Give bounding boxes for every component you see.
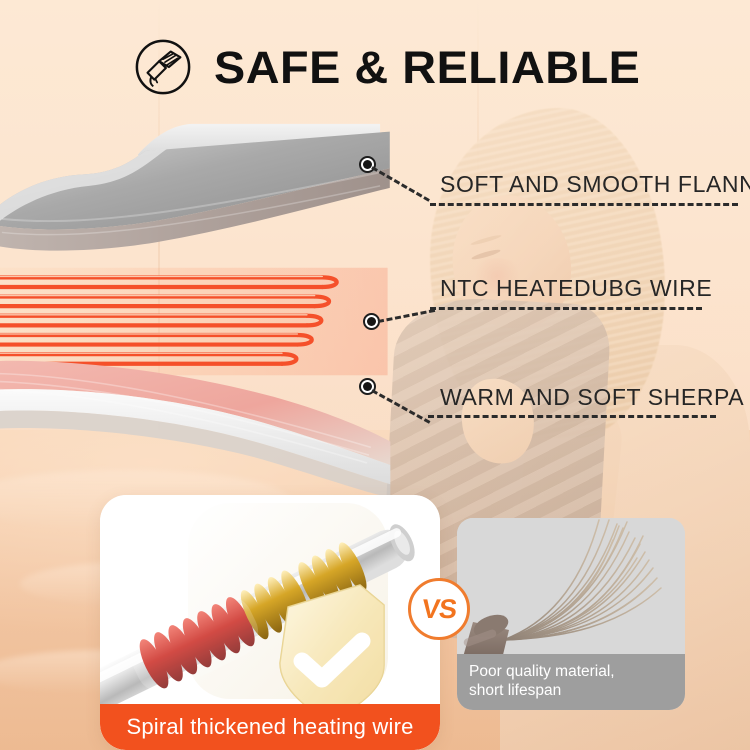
underline-sherpa	[428, 415, 716, 418]
callout-label-flannel: SOFT AND SMOOTH FLANNEL	[440, 173, 750, 196]
callout-label-sherpa: WARM AND SOFT SHERPA	[440, 386, 744, 409]
underline-wire	[430, 307, 702, 310]
good-caption-text: Spiral thickened heating wire	[126, 714, 413, 740]
page-title: SAFE & RELIABLE	[214, 45, 640, 90]
good-caption-bar: Spiral thickened heating wire	[100, 704, 440, 750]
header: SAFE & RELIABLE	[134, 36, 634, 98]
callout-label-wire: NTC HEATEDUBG WIRE	[440, 277, 712, 300]
hand-holding-cable-icon	[134, 38, 192, 96]
layer-flannel-sheet	[0, 118, 396, 278]
underline-flannel	[430, 203, 738, 206]
comparison-card-good[interactable]: Spiral thickened heating wire	[100, 495, 440, 750]
vs-badge: VS	[408, 578, 470, 640]
infographic-canvas: SOFT AND SMOOTH FLANNEL NTC HEATEDUBG WI…	[0, 0, 750, 750]
bad-caption-line2: short lifespan	[469, 682, 673, 701]
exploded-blanket-diagram	[0, 112, 416, 452]
bad-caption-line1: Poor quality material,	[469, 663, 673, 682]
comparison-card-bad[interactable]: Poor quality material, short lifespan	[457, 518, 685, 710]
vs-label: VS	[420, 594, 457, 625]
bad-caption-bar: Poor quality material, short lifespan	[457, 654, 685, 710]
